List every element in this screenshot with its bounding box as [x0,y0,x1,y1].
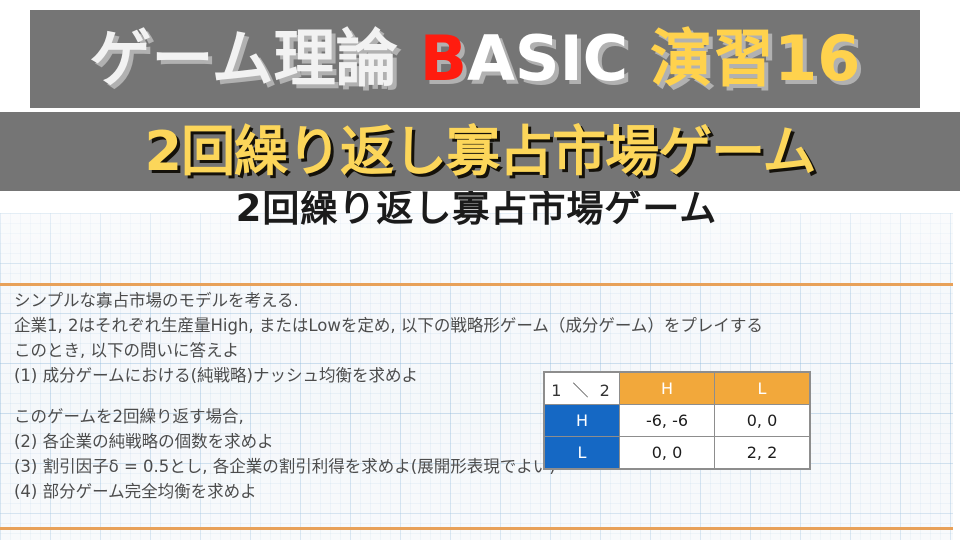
body-line-question-4: (4) 部分ゲーム完全均衡を求めよ [14,479,944,504]
matrix-cell-hl: 0, 0 [715,405,810,437]
body-line-1: シンプルな寡占市場のモデルを考える. [14,288,944,313]
title-part-b: B [420,22,467,95]
body-line-2: 企業1, 2はそれぞれ生産量High, またはLowを定め, 以下の戦略形ゲーム… [14,313,944,338]
table-row: L 0, 0 2, 2 [545,437,810,469]
title-part-exercise: 演習16 [650,22,860,95]
matrix-row-header-h: H [545,405,620,437]
title-part-asic: ASIC [467,22,628,95]
payoff-matrix-table: 1 ＼ 2 H L H -6, -6 0, 0 L 0, 0 2, 2 [544,372,810,469]
body-line-3: このとき, 以下の問いに答えよ [14,338,944,363]
banner-title-text: ゲーム理論BASIC演習16 [90,28,861,90]
banner-subtitle-box: 2回繰り返し寡占市場ゲーム [0,112,960,191]
banner-subtitle-text: 2回繰り返し寡占市場ゲーム [145,125,816,179]
title-part-game-theory: ゲーム理論 [90,22,398,95]
banner-title-box: ゲーム理論BASIC演習16 [30,10,920,108]
matrix-col-header-h: H [620,373,715,405]
matrix-cell-lh: 0, 0 [620,437,715,469]
horizontal-rule-top [0,283,953,286]
matrix-corner-label: 1 ＼ 2 [545,373,620,405]
matrix-row-header-l: L [545,437,620,469]
matrix-cell-ll: 2, 2 [715,437,810,469]
matrix-cell-hh: -6, -6 [620,405,715,437]
title-banner-overlay: ゲーム理論BASIC演習16 2回繰り返し寡占市場ゲーム [0,0,960,191]
matrix-col-header-l: L [715,373,810,405]
horizontal-rule-bottom [0,527,953,530]
table-row-header: 1 ＼ 2 H L [545,373,810,405]
table-row: H -6, -6 0, 0 [545,405,810,437]
